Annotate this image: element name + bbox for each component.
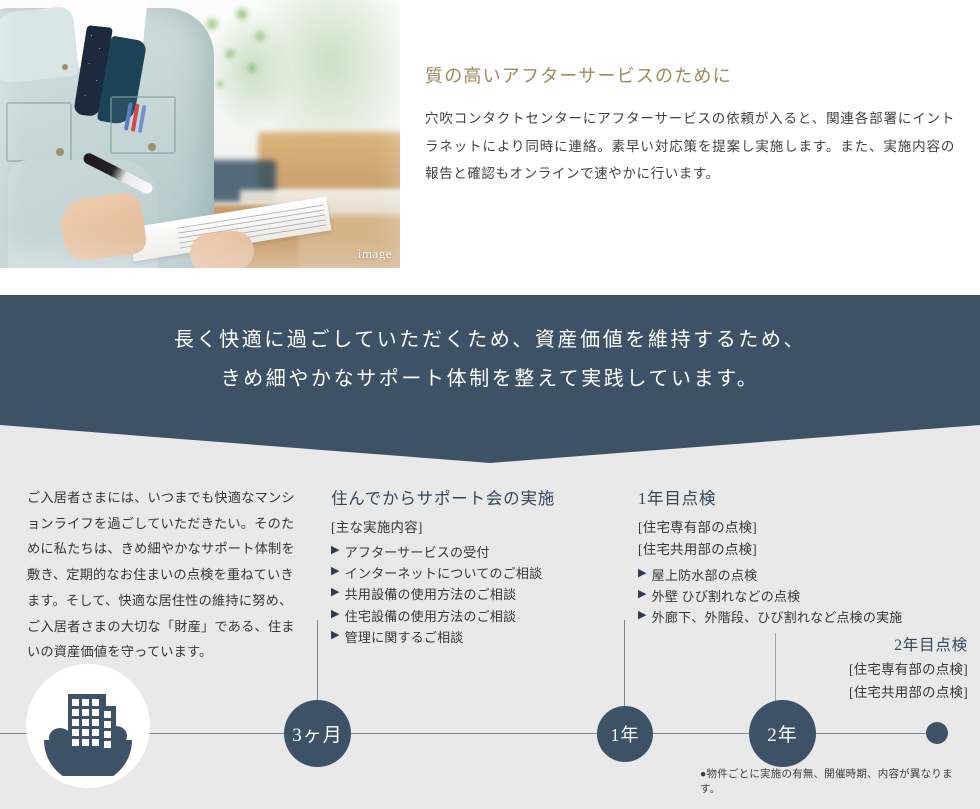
- top-section-body: 穴吹コンタクトセンターにアフターサービスの依頼が入ると、関連各部署にイントラネッ…: [425, 105, 955, 188]
- timeline-connector-3months: [317, 620, 318, 702]
- triangle-bullet-icon: ▶: [638, 607, 647, 624]
- list-item: ▶アフターサービスの受付: [331, 542, 631, 563]
- year1-heading: 1年目点検: [638, 485, 968, 509]
- triangle-bullet-icon: ▶: [331, 627, 340, 644]
- banner-arrow-shape: [0, 425, 980, 463]
- triangle-bullet-icon: ▶: [331, 606, 340, 623]
- support-heading: 住んでからサポート会の実施: [331, 485, 631, 509]
- list-item-label: 外壁 ひび割れなどの点検: [652, 586, 801, 607]
- photo-vignette: [0, 0, 400, 268]
- banner-line-1: 長く快適に過ごしていただくため、資産価値を維持するため、: [174, 321, 806, 360]
- list-item: ▶共用設備の使用方法のご相談: [331, 584, 631, 605]
- support-item-list: ▶アフターサービスの受付 ▶インターネットについてのご相談 ▶共用設備の使用方法…: [331, 542, 631, 647]
- column-year1-inspection: 1年目点検 [住宅専有部の点検] [住宅共用部の点検] ▶屋上防水部の点検 ▶外…: [638, 485, 968, 628]
- support-subheading: [主な実施内容]: [331, 518, 631, 538]
- list-item-label: 外廊下、外階段、ひび割れなど点検の実施: [652, 607, 903, 628]
- top-section-title: 質の高いアフターサービスのために: [425, 62, 955, 88]
- list-item: ▶外廊下、外階段、ひび割れなど点検の実施: [638, 607, 968, 628]
- year2-sub-1: [住宅専有部の点検]: [788, 660, 968, 681]
- timeline-node-3months[interactable]: 3ヶ月: [284, 700, 351, 767]
- list-item-label: 共用設備の使用方法のご相談: [345, 584, 517, 605]
- column-support-meeting: 住んでからサポート会の実施 [主な実施内容] ▶アフターサービスの受付 ▶インタ…: [331, 485, 631, 648]
- footnote-text: ●物件ごとに実施の有無、開催時期、内容が異なります。: [700, 766, 970, 796]
- top-section: image 質の高いアフターサービスのために 穴吹コンタクトセンターにアフターサ…: [0, 0, 980, 295]
- list-item-label: アフターサービスの受付: [345, 542, 490, 563]
- triangle-bullet-icon: ▶: [331, 563, 340, 580]
- timeline-node-label: 1年: [611, 721, 640, 747]
- top-text-block: 質の高いアフターサービスのために 穴吹コンタクトセンターにアフターサービスの依頼…: [425, 62, 955, 188]
- list-item: ▶住宅設備の使用方法のご相談: [331, 606, 631, 627]
- hero-photo: image: [0, 0, 400, 268]
- list-item: ▶インターネットについてのご相談: [331, 563, 631, 584]
- year1-item-list: ▶屋上防水部の点検 ▶外壁 ひび割れなどの点検 ▶外廊下、外階段、ひび割れなど点…: [638, 565, 968, 628]
- column-year2-inspection: 2年目点検 [住宅専有部の点検] [住宅共用部の点検]: [788, 633, 968, 706]
- list-item: ▶管理に関するご相談: [331, 627, 631, 648]
- timeline-endpoint-dot: [926, 722, 948, 744]
- year2-sub-2: [住宅共用部の点検]: [788, 683, 968, 704]
- photo-image-watermark: image: [358, 246, 392, 262]
- timeline-node-2year[interactable]: 2年: [749, 700, 816, 767]
- year1-sub-1: [住宅専有部の点検]: [638, 518, 968, 538]
- list-item: ▶外壁 ひび割れなどの点検: [638, 586, 968, 607]
- page-root: image 質の高いアフターサービスのために 穴吹コンタクトセンターにアフターサ…: [0, 0, 980, 809]
- navy-banner-text: 長く快適に過ごしていただくため、資産価値を維持するため、 きめ細やかなサポート体…: [0, 295, 980, 425]
- banner-line-2: きめ細やかなサポート体制を整えて実践しています。: [221, 360, 760, 399]
- timeline-node-label: 3ヶ月: [292, 720, 343, 747]
- list-item-label: インターネットについてのご相談: [345, 563, 543, 584]
- list-item: ▶屋上防水部の点検: [638, 565, 968, 586]
- year2-heading: 2年目点検: [788, 633, 968, 655]
- year2-divider-line: [775, 633, 776, 711]
- triangle-bullet-icon: ▶: [638, 586, 647, 603]
- timeline-node-1year[interactable]: 1年: [597, 706, 653, 762]
- intro-paragraph: ご入居者さまには、いつまでも快適なマンションライフを過ごしていただきたい。そのた…: [27, 485, 305, 665]
- triangle-bullet-icon: ▶: [331, 584, 340, 601]
- list-item-label: 住宅設備の使用方法のご相談: [345, 606, 517, 627]
- list-item-label: 管理に関するご相談: [345, 627, 464, 648]
- triangle-bullet-icon: ▶: [638, 565, 647, 582]
- column-intro: ご入居者さまには、いつまでも快適なマンションライフを過ごしていただきたい。そのた…: [27, 485, 305, 665]
- year1-sub-2: [住宅共用部の点検]: [638, 540, 968, 560]
- navy-banner: 長く快適に過ごしていただくため、資産価値を維持するため、 きめ細やかなサポート体…: [0, 295, 980, 425]
- triangle-bullet-icon: ▶: [331, 542, 340, 559]
- list-item-label: 屋上防水部の点検: [652, 565, 758, 586]
- timeline-node-label: 2年: [767, 720, 798, 747]
- building-trees-icon: [26, 664, 150, 788]
